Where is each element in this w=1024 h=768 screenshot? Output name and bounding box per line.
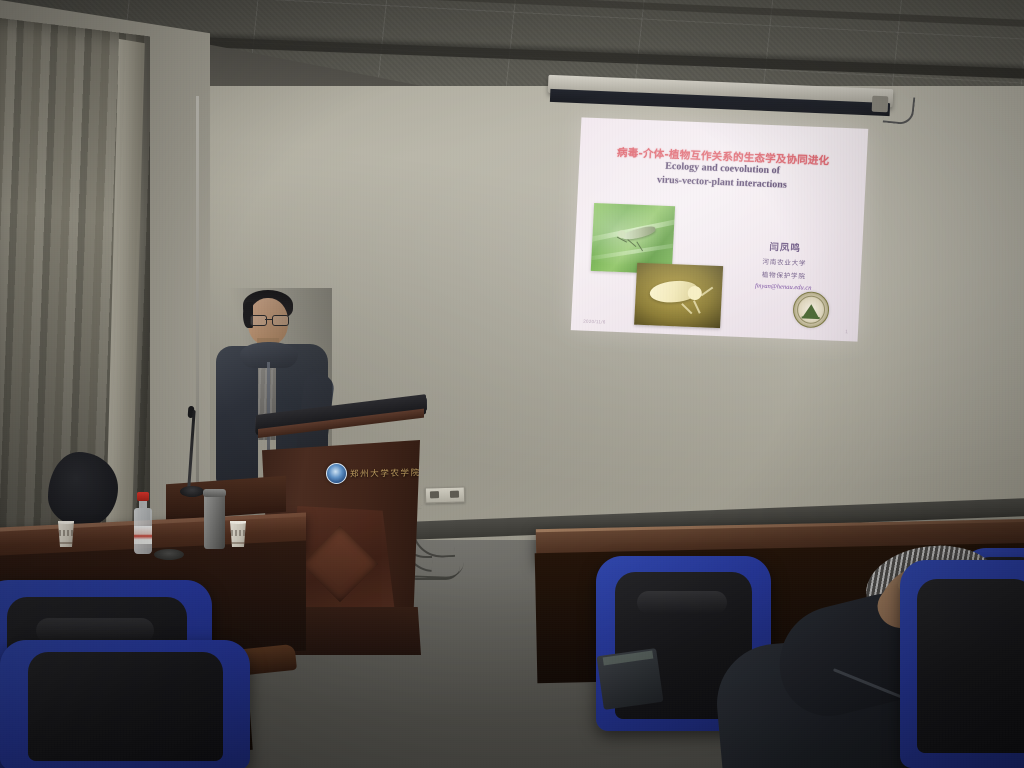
author-email: fmyan@henau.edu.cn [728,281,838,292]
outlet-socket [450,491,459,498]
lectern-diamond-inlay [302,525,378,601]
author-department: 植物保护学院 [729,267,839,281]
projected-slide: 病毒-介体-植物互作关系的生态学及协同进化 Ecology and coevol… [571,117,869,341]
glasses-icon [250,315,287,324]
microphone-base [180,486,204,497]
vacuum-flask [204,493,225,549]
university-logo-icon [792,291,830,328]
whitefly-antenna [700,286,712,295]
water-bottle [134,492,152,554]
gooseneck-microphone [180,410,202,502]
cup-print [59,530,73,536]
ashtray [154,549,184,560]
chair-shell [900,560,1024,768]
lectern-emblem-icon [326,463,347,484]
author-organization: 河南农业大学 [729,254,839,268]
chair-cushion [28,652,223,761]
chair-shell [0,640,250,768]
cup-base-ring [230,542,246,544]
microphone-stem [187,410,195,488]
outlet-socket [430,491,439,498]
cup-print [231,530,245,536]
whitefly-leg [693,300,700,313]
bottle-label [134,526,152,544]
slide-date-stamp: 2020/11/6 [583,319,606,325]
bag-on-chair [48,452,118,527]
planthopper-leg [627,239,636,247]
glasses-lens-right [272,315,289,326]
slide-page-number: 1 [845,329,848,335]
whitefly-leg [681,303,692,314]
author-name: 闫凤鸣 [730,237,841,255]
vacuum-flask-lid [203,489,226,497]
auditorium-chair [900,560,1024,768]
auditorium-chair [0,640,250,768]
chair-cushion [917,579,1024,754]
glasses-lens-left [250,315,267,326]
glasses-bridge [265,319,272,320]
logo-mark [803,304,820,318]
whitefly-head [687,286,702,301]
lectern-sign-text: 郑州大学农学院 [350,466,421,479]
lecture-hall-photo: 病毒-介体-植物互作关系的生态学及协同进化 Ecology and coevol… [0,0,1024,768]
slide-author-block: 闫凤鸣 河南农业大学 植物保护学院 fmyan@henau.edu.cn [728,237,840,292]
cup-base-ring [58,542,74,544]
bottle-cap [137,492,149,501]
slide-photo-whitefly [634,263,723,328]
